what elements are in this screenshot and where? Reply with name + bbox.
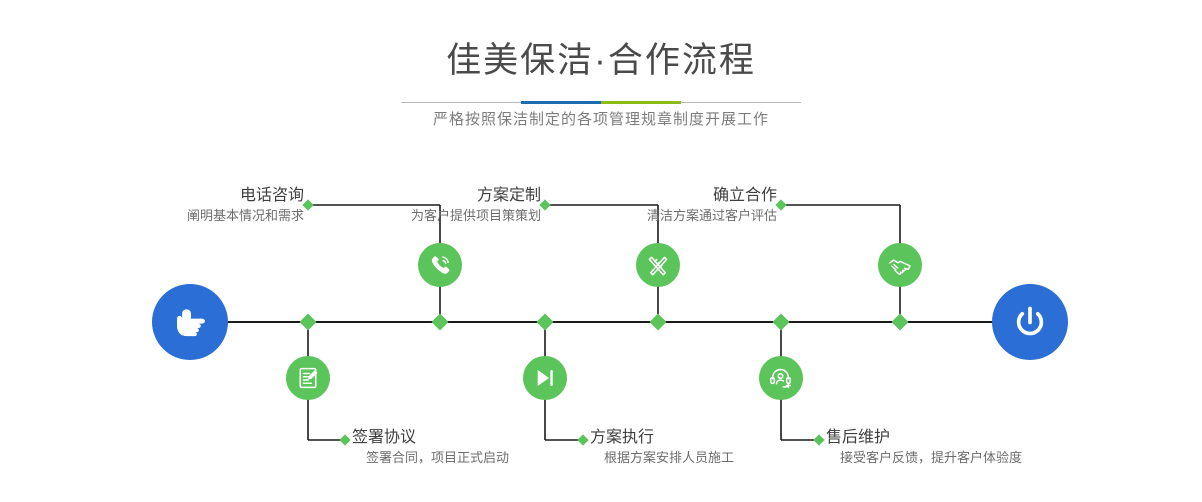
headset-support-icon — [768, 365, 794, 391]
timeline-start-node[interactable] — [152, 284, 228, 360]
step-desc-6: 接受客户反馈，提升客户体验度 — [826, 448, 1156, 467]
play-skip-icon — [532, 365, 558, 391]
step-desc-5: 清洁方案通过客户评估 — [481, 206, 777, 225]
spine-diamond-3 — [537, 314, 554, 331]
step-icon-5[interactable] — [878, 243, 922, 287]
step-title-5: 确立合作 — [481, 186, 777, 206]
pointing-hand-icon — [169, 301, 211, 343]
step-icon-3[interactable] — [636, 243, 680, 287]
handshake-icon — [887, 252, 913, 278]
process-timeline: 电话咨询 阐明基本情况和需求 方案定制 为客户提供项目策策划 确立合作 清洁方案… — [0, 0, 1202, 502]
timeline-end-node[interactable] — [992, 284, 1068, 360]
spine-diamond-2 — [432, 314, 449, 331]
document-edit-icon — [295, 365, 321, 391]
step-icon-1[interactable] — [418, 243, 462, 287]
step-icon-4[interactable] — [523, 356, 567, 400]
label-diamond-step-2 — [339, 434, 350, 445]
spine-diamond-5 — [773, 314, 790, 331]
spine-diamond-6 — [892, 314, 909, 331]
step-label-6: 售后维护 接受客户反馈，提升客户体验度 — [826, 428, 1156, 467]
timeline-connectors — [0, 0, 1202, 502]
power-icon — [1009, 301, 1051, 343]
step-icon-2[interactable] — [286, 356, 330, 400]
pencil-ruler-icon — [645, 252, 671, 278]
cooperation-process-infographic: 佳美保洁·合作流程 严格按照保洁制定的各项管理规章制度开展工作 — [0, 0, 1202, 502]
spine-diamond-1 — [300, 314, 317, 331]
phone-icon — [427, 252, 453, 278]
spine-diamond-4 — [650, 314, 667, 331]
step-icon-6[interactable] — [759, 356, 803, 400]
label-diamond-step-5 — [775, 199, 786, 210]
step-label-5: 确立合作 清洁方案通过客户评估 — [481, 186, 777, 225]
step-title-6: 售后维护 — [826, 428, 1156, 448]
